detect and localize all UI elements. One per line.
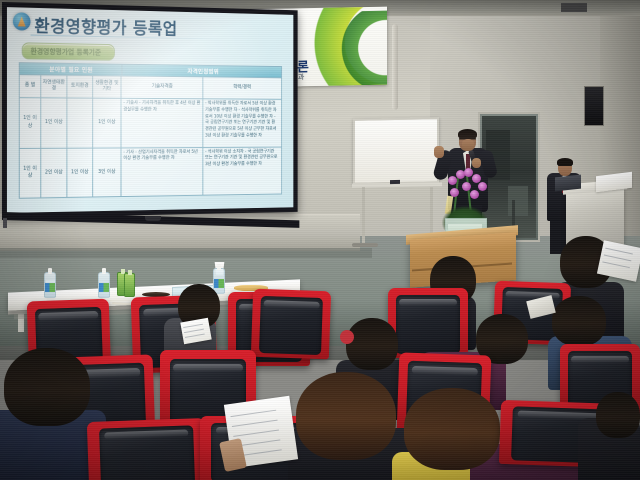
projected-slide: 환경영향평가 등록업 환경영향평가업 등록기준 분야별 필요 인원 자격인정범위…	[7, 7, 293, 213]
audience-head	[346, 318, 398, 370]
banner-swoosh-dark	[303, 11, 387, 87]
row1-cell4: - 기사 - 산업기사자격을 취득한 자로서 5년 이상 환경 기술무를 수행한…	[121, 147, 203, 196]
handout-line	[231, 410, 277, 417]
water-bottle	[98, 272, 110, 298]
presenter-hair	[458, 129, 477, 139]
row1-cell3: 3인 이상	[93, 148, 121, 197]
slide-table: 분야별 필요 인원 자격인정범위 종 별 자연생태환경 토지환경 생활환경 및 …	[19, 62, 282, 198]
seat-highlight	[571, 356, 629, 363]
podium-man-hair	[557, 158, 573, 166]
row1-cell1: 2인 이상	[41, 148, 67, 197]
audience-head	[404, 388, 500, 470]
col-header-5: 학력/경력	[203, 77, 280, 99]
projection-screen: 환경영향평가 등록업 환경영향평가업 등록기준 분야별 필요 인원 자격인정범위…	[2, 2, 298, 218]
water-bottle	[44, 272, 56, 298]
handout-line	[605, 248, 633, 255]
orchid-bloom	[448, 176, 457, 185]
laptop-icon	[555, 175, 581, 192]
col-header-0: 종 별	[20, 75, 42, 97]
col-header-4: 기술자격증	[121, 76, 203, 98]
audience-head	[296, 372, 396, 460]
green-bottle	[124, 273, 135, 297]
orchid-bloom	[462, 182, 471, 191]
col-header-2: 토지환경	[67, 76, 93, 98]
audience-head	[552, 296, 606, 346]
handout-line	[603, 261, 631, 268]
table-row: 1인 이상 2인 이상 1인 이상 3인 이상 - 기사 - 산업기사자격을 취…	[20, 146, 281, 198]
row1-cell0: 1인 이상	[20, 148, 42, 197]
whiteboard-leg	[362, 187, 365, 245]
slide-logo-icon	[13, 12, 31, 30]
ceiling-speaker-icon	[584, 86, 604, 126]
row0-cell2	[67, 98, 93, 147]
whiteboard-marker	[390, 180, 400, 184]
whiteboard-leg	[430, 187, 433, 237]
audience-head	[596, 392, 640, 438]
row1-cell2: 1인 이상	[67, 148, 93, 197]
bottle-label	[214, 279, 224, 288]
wall-pole	[392, 24, 398, 110]
seat	[87, 418, 207, 480]
bottle-label	[45, 283, 55, 292]
slide-table-column-headers: 종 별 자연생태환경 토지환경 생활환경 및 기타 기술자격증 학력/경력	[20, 74, 281, 99]
handout-line	[604, 255, 632, 262]
orchid-bloom	[478, 182, 487, 191]
handout-line	[234, 429, 280, 436]
slide-section-pill-label: 환경영향평가업 등록기준	[31, 47, 101, 58]
table-row: 1인 이상 1인 이상 1인 이상 - 기술사 - 기사자격을 취득한 후 4년…	[20, 97, 281, 147]
row0-cell1: 1인 이상	[41, 98, 67, 147]
presenter-face	[462, 139, 474, 150]
presenter-right-hand	[472, 158, 481, 168]
bottle-label	[99, 283, 109, 292]
handout-line	[183, 324, 202, 328]
whiteboard-foot	[352, 243, 378, 247]
handout-line	[232, 420, 278, 427]
row0-cell5: - 박사학위를 취득한 자로서 5년 이상 환경 기술무를 수행한 자 - 석사…	[203, 99, 280, 146]
presenter-left-hand	[434, 146, 444, 158]
stage-base	[0, 248, 372, 258]
audience-head	[4, 348, 90, 426]
col-header-3: 생활환경 및 기타	[93, 76, 121, 98]
screen-leg	[3, 218, 7, 228]
background-chair-leg	[512, 200, 515, 226]
slide-section-pill: 환경영향평가업 등록기준	[22, 42, 115, 60]
seat	[388, 288, 468, 358]
row0-cell3: 1인 이상	[93, 99, 121, 147]
hair-tie	[340, 330, 354, 344]
seat	[251, 289, 331, 360]
handout-line	[184, 329, 203, 333]
whiteboard	[353, 117, 439, 185]
handout-line	[185, 334, 204, 338]
col-header-1: 자연생태환경	[41, 75, 67, 97]
seat-highlight	[399, 299, 457, 306]
seat-highlight	[173, 364, 242, 373]
screen-surface: 환경영향평가 등록업 환경영향평가업 등록기준 분야별 필요 인원 자격인정범위…	[7, 7, 293, 213]
ceiling-fixture	[561, 3, 587, 12]
row1-cell5: - 석사학위 이상 소지자 - 국 공립연구기관 또는 연구기관 기관 및 환경…	[203, 147, 280, 195]
row0-cell0: 1인 이상	[20, 98, 42, 147]
background-chair	[508, 186, 528, 216]
screen-pull-knob	[145, 216, 161, 221]
orchid-bloom	[470, 190, 479, 199]
row0-cell4: - 기술사 - 기사자격을 취득한 후 4년 이상 환경실무를 수행한 자	[121, 99, 203, 147]
photo-canvas: 수회 구전학토론 고급 환경공학과 환경영향평가 등록업 환경영향평가업 등록기…	[0, 0, 640, 480]
